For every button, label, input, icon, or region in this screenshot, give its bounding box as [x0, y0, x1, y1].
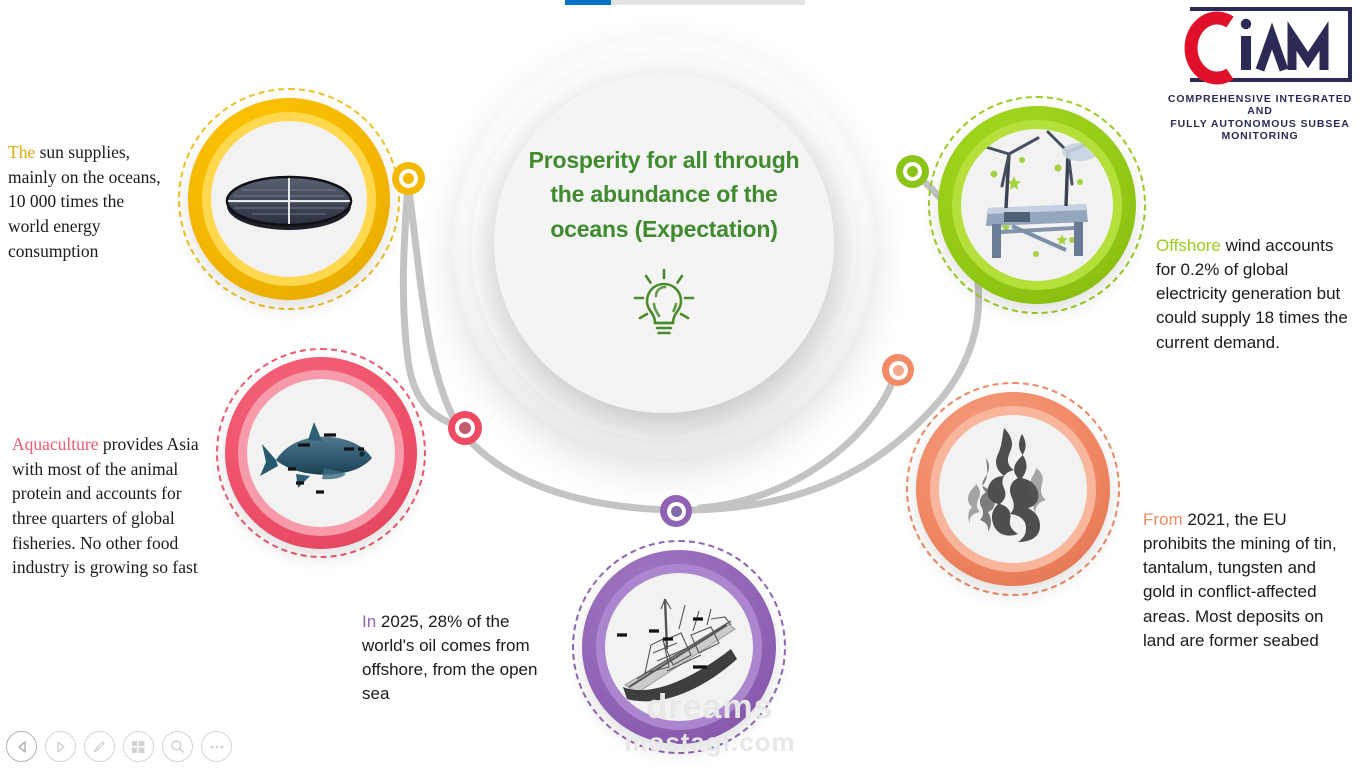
ciam-logo: COMPREHENSIVE INTEGRATED AND FULLY AUTON… [1160, 4, 1360, 114]
grid-icon [131, 740, 146, 754]
caption-solar-lead: The [8, 142, 35, 162]
solar-panel-island-image [214, 124, 364, 274]
node-offshore-oil-image-face [605, 573, 753, 721]
node-aquaculture[interactable] [216, 348, 426, 558]
previous-slide-button[interactable] [6, 731, 37, 762]
offshore-rig-wreck-image [607, 575, 751, 719]
ciam-tagline-line2: FULLY AUTONOMOUS SUBSEA MONITORING [1160, 118, 1360, 142]
slide-overview-button[interactable] [123, 731, 154, 762]
caption-deepsea-mining-lead: From [1143, 510, 1183, 529]
caption-aquaculture-lead: Aquaculture [12, 434, 99, 454]
pen-icon [92, 739, 107, 754]
node-offshore-wind-image-face [961, 129, 1113, 281]
mineral-plume-image [958, 424, 1068, 554]
presentation-toolbar [6, 731, 232, 762]
node-offshore-oil[interactable] [572, 540, 786, 754]
caption-deepsea-mining-body: 2021, the EU prohibits the mining of tin… [1143, 510, 1337, 650]
zoom-button[interactable] [162, 731, 193, 762]
node-offshore-wind[interactable] [928, 96, 1146, 314]
caption-solar: The sun supplies, mainly on the oceans, … [8, 140, 168, 263]
caption-offshore-oil-lead: In [362, 612, 376, 631]
center-hub-face: Prosperity for all through the abundance… [494, 73, 834, 413]
page-title: Prosperity for all through the abundance… [514, 143, 814, 245]
slide-progress-track[interactable] [565, 0, 805, 5]
ellipsis-icon [209, 744, 225, 750]
slide-canvas: Prosperity for all through the abundance… [0, 0, 1366, 768]
more-options-button[interactable] [201, 731, 232, 762]
ciam-logo-mark [1160, 4, 1360, 88]
caption-offshore-oil: In 2025, 28% of the world's oil comes fr… [362, 610, 548, 707]
caption-aquaculture-body: provides Asia with most of the animal pr… [12, 434, 199, 577]
next-slide-button[interactable] [45, 731, 76, 762]
connector-dot-offshore-oil[interactable] [660, 495, 692, 527]
caption-offshore-oil-body: 2025, 28% of the world's oil comes from … [362, 612, 537, 703]
connector-dot-solar[interactable] [392, 162, 425, 195]
node-aquaculture-image-face [247, 379, 395, 527]
triangle-right-icon [55, 741, 67, 753]
node-solar[interactable] [178, 88, 400, 310]
ciam-tagline-line1: COMPREHENSIVE INTEGRATED AND [1160, 93, 1360, 117]
bluefin-tuna-image [250, 382, 392, 524]
lightbulb-icon [632, 266, 696, 343]
connector-dot-aquaculture[interactable] [448, 411, 482, 445]
node-solar-image-face [211, 121, 367, 277]
connector-dot-offshore-wind[interactable] [896, 155, 929, 188]
offshore-wind-platform-image [962, 130, 1112, 280]
slide-progress-fill [565, 0, 611, 5]
node-deepsea-mining-image-face [939, 415, 1087, 563]
center-hub: Prosperity for all through the abundance… [449, 32, 879, 462]
center-hub-mid-ring: Prosperity for all through the abundance… [472, 55, 856, 439]
caption-deepsea-mining: From 2021, the EU prohibits the mining o… [1143, 508, 1343, 653]
node-deepsea-mining[interactable] [906, 382, 1120, 596]
pen-tool-button[interactable] [84, 731, 115, 762]
caption-offshore-wind-lead: Offshore [1156, 236, 1221, 255]
caption-aquaculture: Aquaculture provides Asia with most of t… [12, 432, 212, 580]
connector-dot-deepsea-mining[interactable] [882, 354, 914, 386]
triangle-left-icon [16, 741, 28, 753]
caption-offshore-wind: Offshore wind accounts for 0.2% of globa… [1156, 234, 1348, 355]
magnifier-icon [170, 739, 185, 754]
